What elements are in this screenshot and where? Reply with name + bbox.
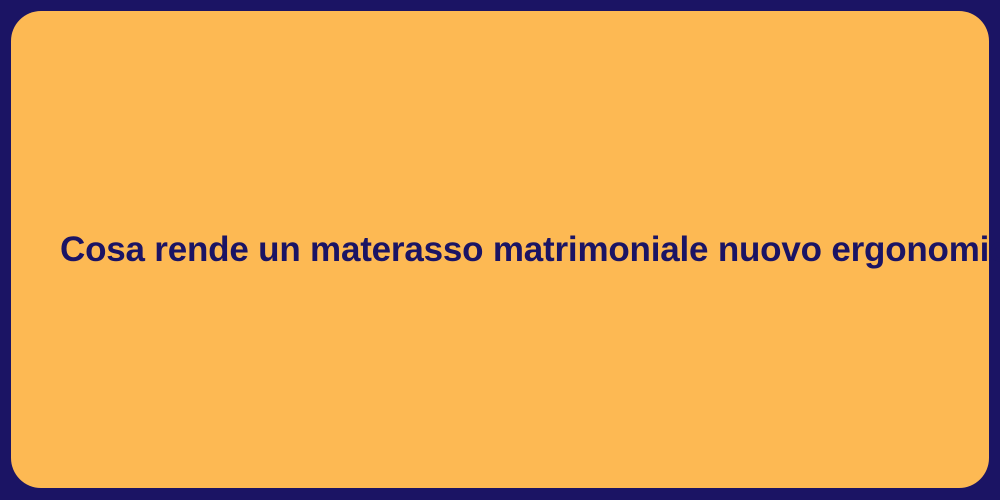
- question-card-frame: Cosa rende un materasso matrimoniale nuo…: [0, 0, 1000, 500]
- question-heading: Cosa rende un materasso matrimoniale nuo…: [60, 228, 1000, 272]
- question-card-panel: Cosa rende un materasso matrimoniale nuo…: [11, 11, 989, 488]
